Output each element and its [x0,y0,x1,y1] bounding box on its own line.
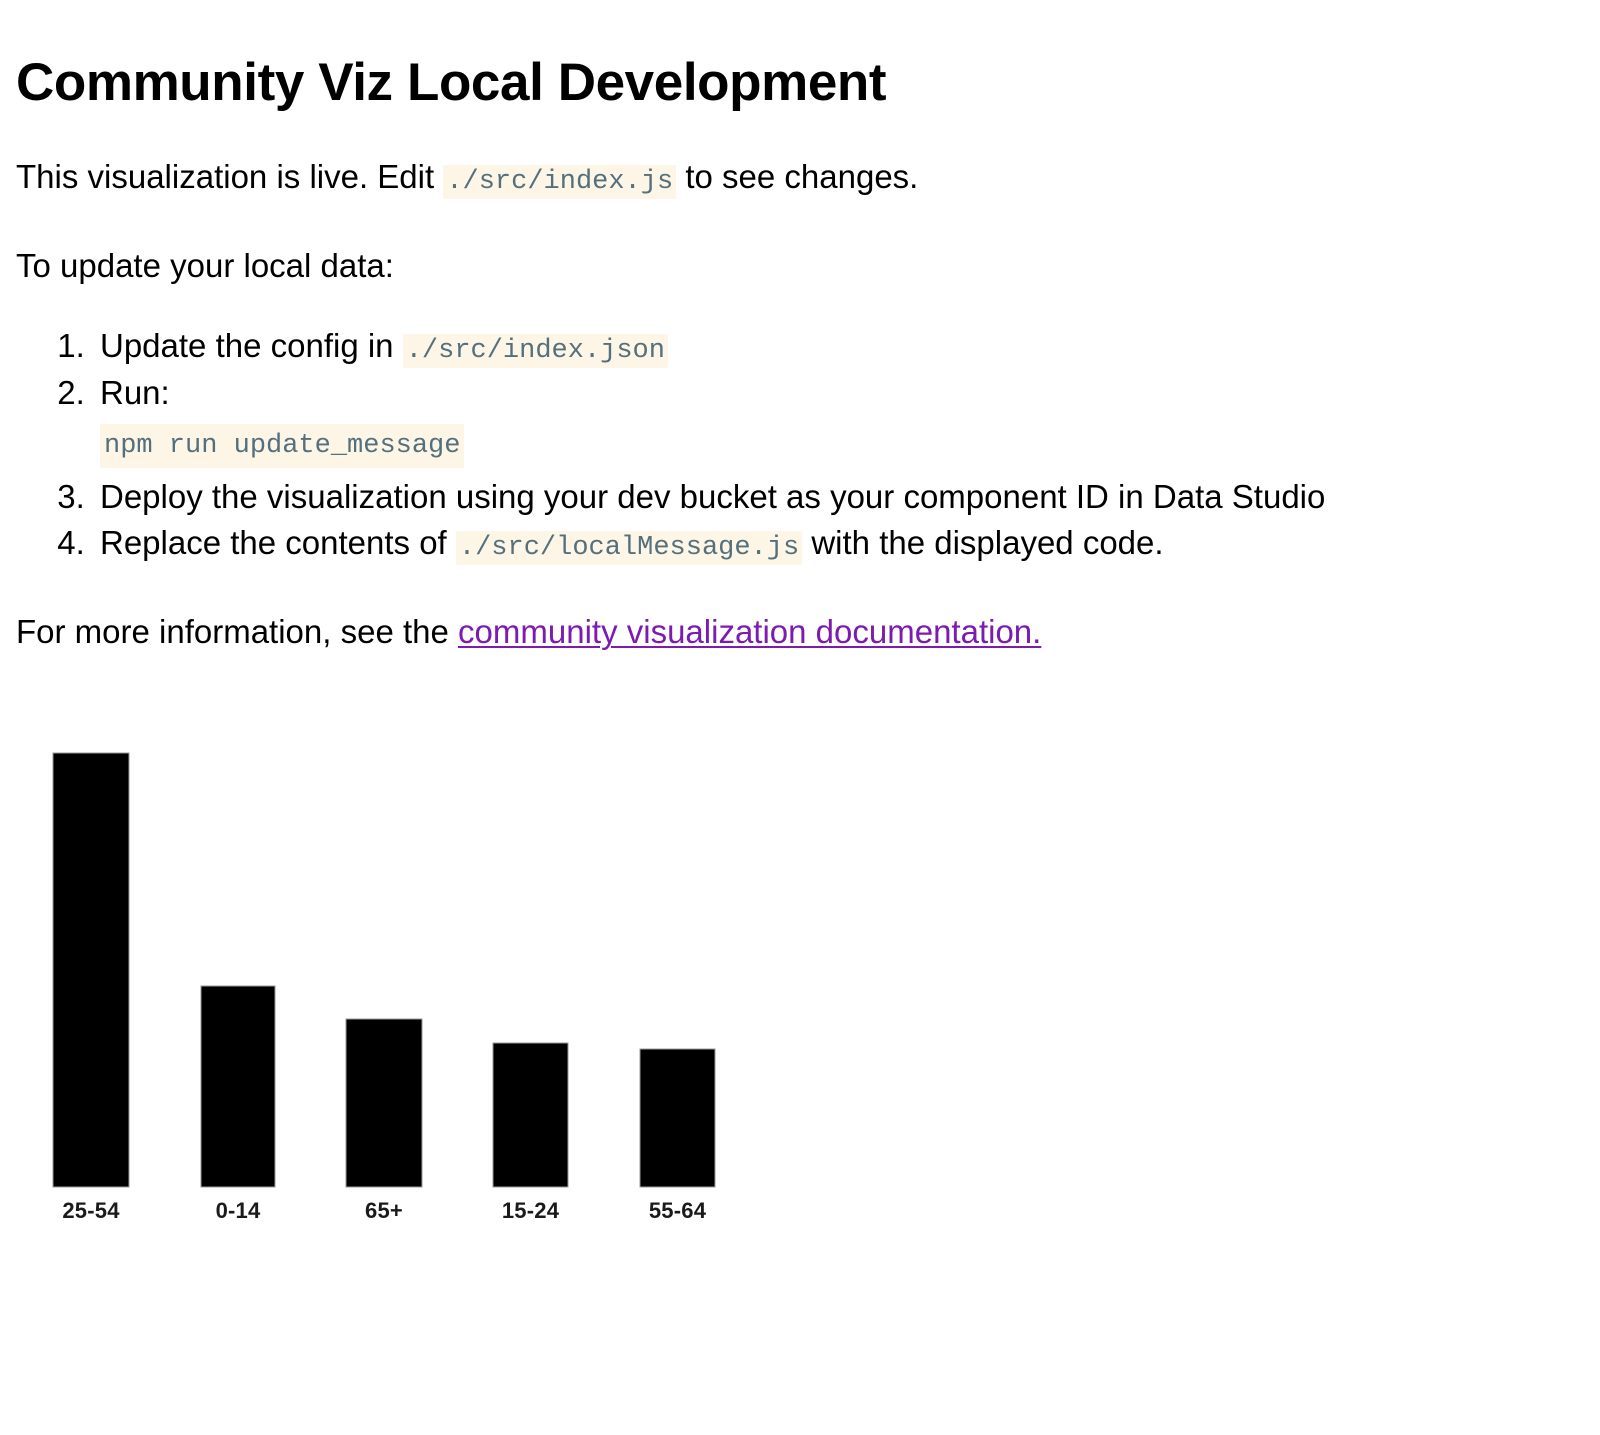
intro-paragraph: This visualization is live. Edit ./src/i… [16,156,1576,200]
x-axis-tick-label: 55-64 [649,1198,707,1223]
bar-15-24[interactable] [493,1043,568,1187]
x-axis-tick-label: 25-54 [62,1198,120,1223]
inline-code-index-json: ./src/index.json [403,334,668,368]
steps-list: Update the config in ./src/index.json Ru… [16,323,1576,567]
step-2-text-before: Run: [100,374,170,411]
bar-25-54[interactable] [53,753,129,1187]
bar-55-64[interactable] [640,1049,715,1187]
step-item-3: Deploy the visualization using your dev … [94,474,1576,520]
step-3-text-before: Deploy the visualization using your dev … [100,478,1325,515]
bar-chart-svg: 25-540-1465+15-2455-64 [16,700,776,1260]
x-axis-tick-label: 0-14 [216,1198,261,1223]
bar-0-14[interactable] [201,986,275,1187]
page-root: Community Viz Local Development This vis… [0,0,1600,1435]
inline-code-index-js: ./src/index.js [443,165,676,199]
code-block-npm-run-update-message: npm run update_message [100,424,464,469]
x-axis-tick-label: 65+ [365,1198,403,1223]
step-item-2: Run: npm run update_message [94,370,1576,468]
step-item-4: Replace the contents of ./src/localMessa… [94,520,1576,567]
document-body: Community Viz Local Development This vis… [16,0,1576,653]
step-1-text-before: Update the config in [100,327,403,364]
bar-65+[interactable] [346,1019,422,1187]
x-axis-tick-label: 15-24 [502,1198,560,1223]
update-lead-paragraph: To update your local data: [16,245,1576,287]
intro-text-before: This visualization is live. Edit [16,158,443,195]
step-4-text-before: Replace the contents of [100,524,456,561]
step-item-1: Update the config in ./src/index.json [94,323,1576,370]
more-info-paragraph: For more information, see the community … [16,611,1576,653]
community-visualization-documentation-link[interactable]: community visualization documentation. [458,613,1041,650]
inline-code-local-message-js: ./src/localMessage.js [456,531,802,565]
step-4-text-after: with the displayed code. [802,524,1163,561]
bar-chart: 25-540-1465+15-2455-64 [16,700,776,1260]
intro-text-after: to see changes. [676,158,918,195]
page-title: Community Viz Local Development [16,53,1576,112]
more-info-text-before: For more information, see the [16,613,458,650]
